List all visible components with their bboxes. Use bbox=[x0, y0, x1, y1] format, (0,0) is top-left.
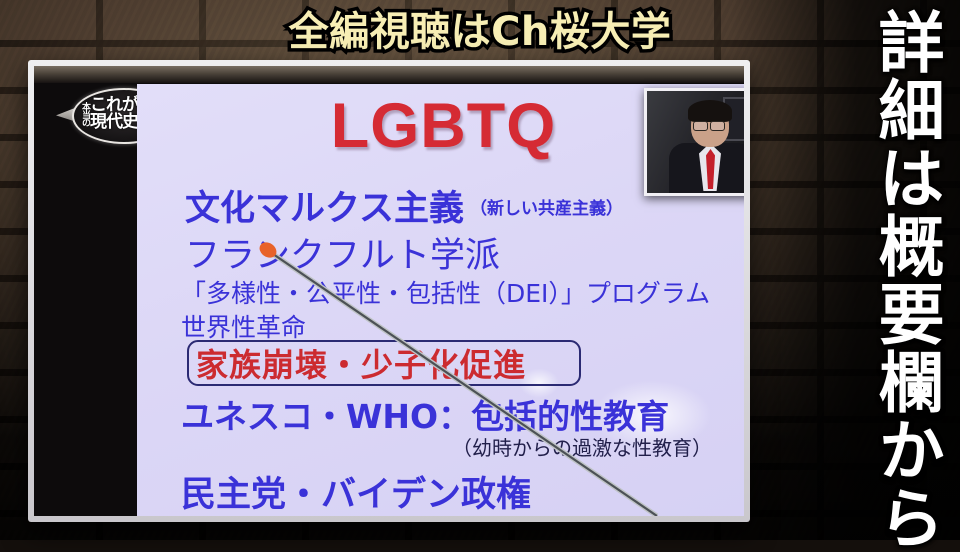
slide-line-6: ユネスコ・WHO：包括的性教育 bbox=[181, 390, 669, 438]
slide-line-2: フランクフルト学派 bbox=[185, 227, 500, 278]
slide-line-1: 文化マルクス主義（新しい共産主義） bbox=[185, 180, 623, 231]
highlight-box: 家族崩壊・少子化促進 bbox=[187, 340, 581, 386]
monitor-screen: 本当の これが近現代史 LGBTQ 文化マルクス主義（新しい共産主義） フランク… bbox=[34, 66, 744, 516]
slide-line-7: （幼時からの過激な性教育） bbox=[137, 432, 712, 461]
slide-line-4: 世界性革命 bbox=[181, 308, 306, 344]
slide-line-1-sub: （新しい共産主義） bbox=[470, 199, 623, 219]
speaker-video-inset: man-in-dark-suit-with-red-tie bbox=[644, 88, 744, 196]
pip-glasses-left bbox=[693, 121, 708, 131]
slide-line-8: 民主党・バイデン政権 bbox=[181, 466, 531, 516]
logo-main-after: 現代史 bbox=[90, 112, 138, 132]
pip-hair bbox=[688, 100, 732, 122]
highlight-box-text: 家族崩壊・少子化促進 bbox=[196, 340, 526, 386]
slide-line-3: 「多様性・公平性・包括性（DEI）」プログラム bbox=[181, 274, 710, 310]
screen-top-glare bbox=[34, 66, 744, 83]
monitor-bezel: 本当の これが近現代史 LGBTQ 文化マルクス主義（新しい共産主義） フランク… bbox=[28, 60, 750, 522]
pip-glasses-right bbox=[710, 121, 725, 131]
logo-small-text: 本当の bbox=[80, 102, 89, 126]
slide-line-1-main: 文化マルクス主義 bbox=[185, 189, 464, 229]
slide-line-9: アマゾン・アップル・アルファベット等 bbox=[177, 512, 717, 516]
